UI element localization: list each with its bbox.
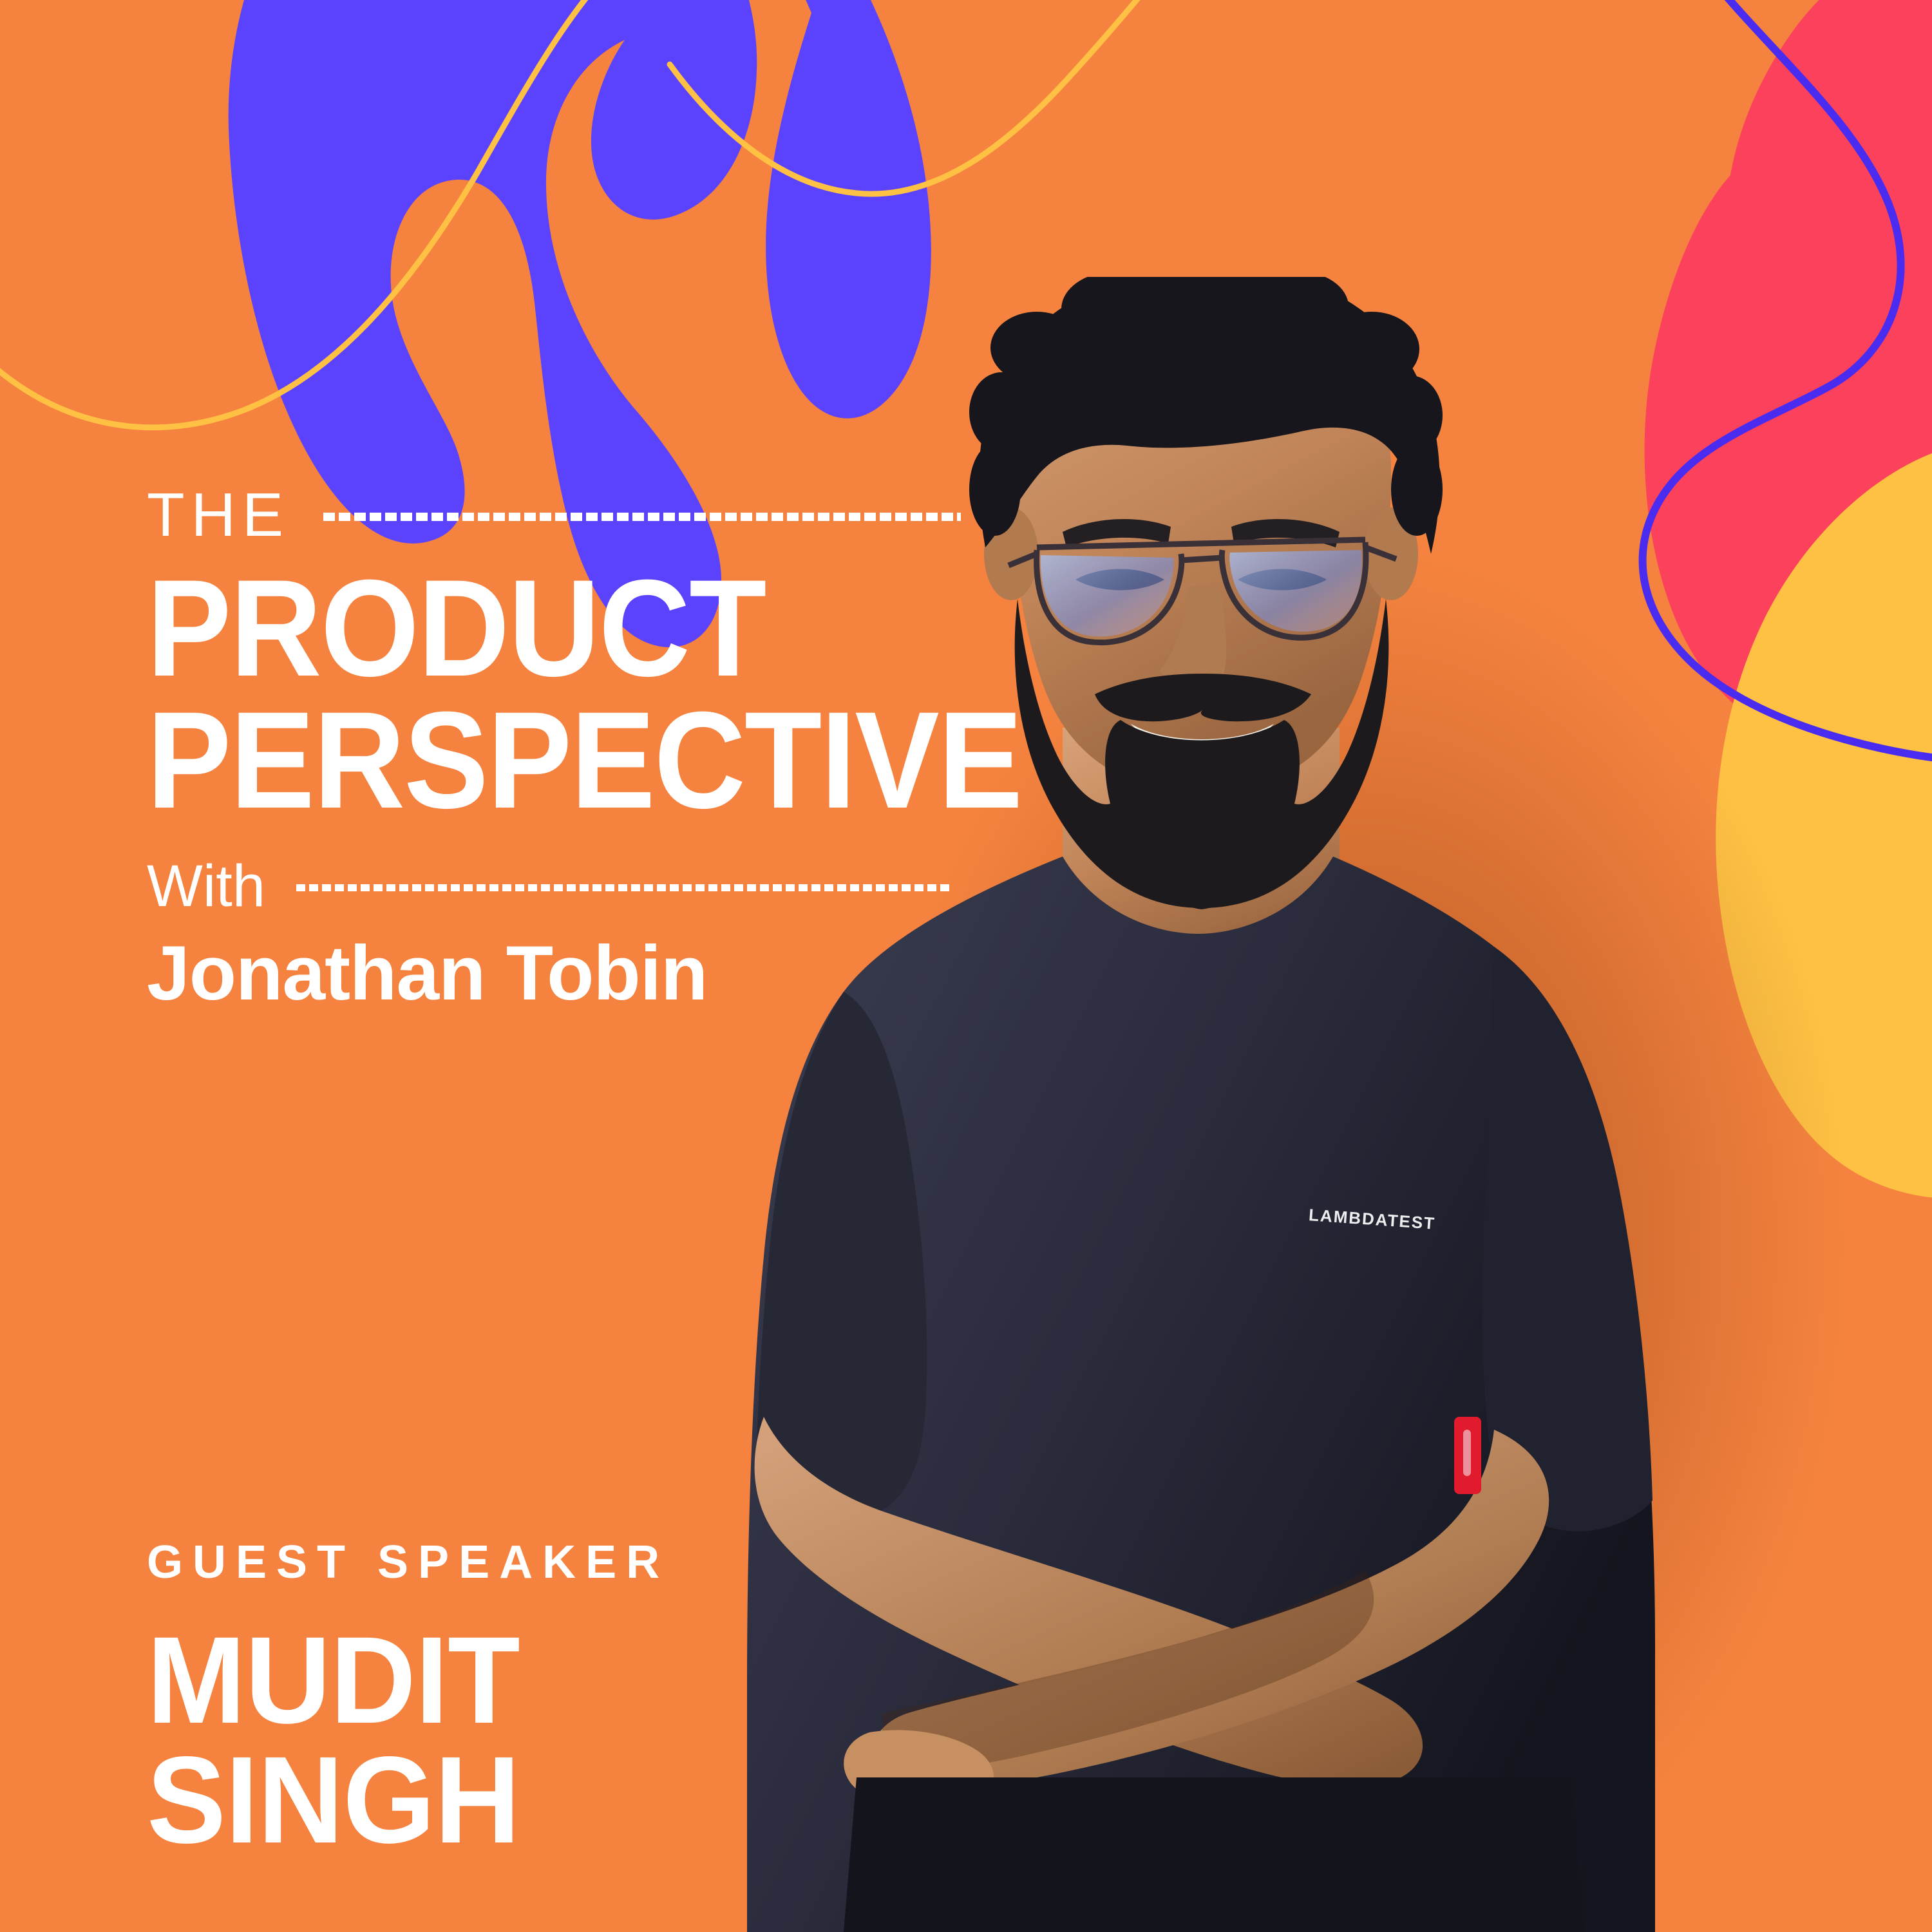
- host-row: With: [147, 854, 1151, 918]
- show-title: PRODUCT PERSPECTIVE: [147, 562, 1071, 827]
- show-title-line-2: PERSPECTIVE: [147, 694, 1071, 826]
- podcast-cover-poster: LAMBDATEST THE PRODUCT PERSPECTIVE With …: [0, 0, 1932, 1932]
- kicker-row: THE: [147, 480, 1151, 551]
- sleeve-red-tab-highlight: [1463, 1430, 1471, 1476]
- guest-name-line-2: SINGH: [147, 1740, 649, 1860]
- guest-speaker-name: MUDIT SINGH: [147, 1620, 649, 1860]
- yellow-curve-line-top: [670, 0, 1179, 194]
- guest-name-line-1: MUDIT: [147, 1620, 649, 1740]
- guest-speaker-block: GUEST SPEAKER MUDIT SINGH: [147, 1539, 669, 1860]
- with-label: With: [147, 857, 265, 916]
- yellow-curve-line-left: [0, 0, 618, 428]
- kicker-the: THE: [147, 484, 290, 546]
- show-title-block: THE PRODUCT PERSPECTIVE With Jonathan To…: [147, 480, 1151, 1014]
- host-name: Jonathan Tobin: [147, 933, 1151, 1014]
- dashed-rule-host: [296, 884, 953, 891]
- show-title-line-1: PRODUCT: [147, 551, 766, 705]
- dashed-rule-top: [323, 513, 961, 521]
- shirt-hem: [844, 1777, 1584, 1932]
- guest-speaker-label: GUEST SPEAKER: [147, 1539, 669, 1586]
